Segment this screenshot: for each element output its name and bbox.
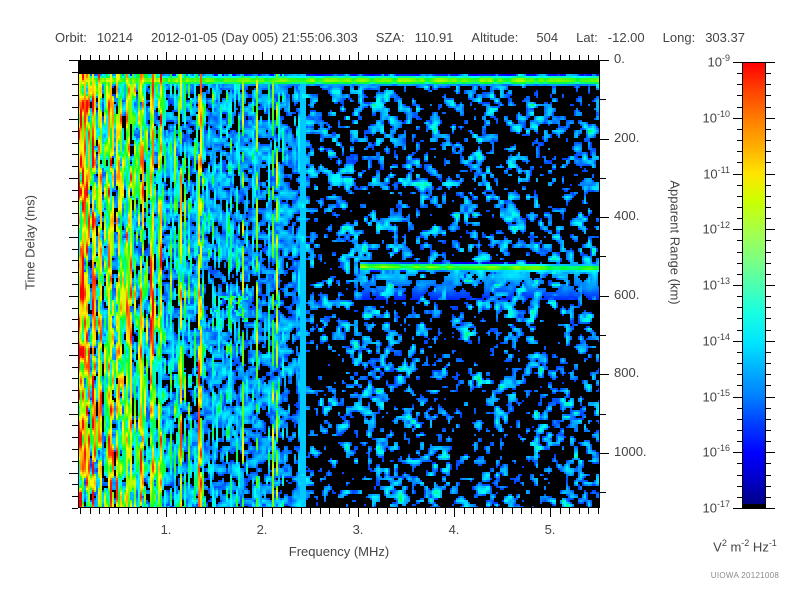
colorbar-minor-tick [737, 95, 742, 96]
colorbar-minor-tick [737, 486, 742, 487]
colorbar-minor-tick [737, 185, 742, 186]
colorbar-minor-tick [737, 207, 742, 208]
colorbar-unit-m: m [727, 539, 741, 554]
colorbar-major-tick [766, 508, 775, 509]
colorbar-tick-exponent: -14 [717, 332, 730, 342]
colorbar-minor-tick [737, 263, 742, 264]
colorbar-minor-tick [766, 363, 771, 364]
colorbar-minor-tick [766, 84, 771, 85]
colorbar-minor-tick [766, 185, 771, 186]
colorbar-minor-tick [737, 363, 742, 364]
colorbar-minor-tick [766, 73, 771, 74]
colorbar-minor-tick [737, 162, 742, 163]
colorbar-minor-tick [766, 129, 771, 130]
colorbar-minor-tick [766, 162, 771, 163]
colorbar-tick-label: 10-13 [703, 276, 730, 292]
colorbar-tick-exponent: -10 [717, 109, 730, 119]
colorbar-tick-base: 10 [703, 277, 717, 292]
colorbar-minor-tick [766, 475, 771, 476]
colorbar-minor-tick [737, 430, 742, 431]
colorbar-minor-tick [766, 408, 771, 409]
colorbar-tick-label: 10-14 [703, 332, 730, 348]
colorbar-minor-tick [737, 274, 742, 275]
colorbar-tick-base: 10 [703, 110, 717, 125]
colorbar-tick-base: 10 [703, 444, 717, 459]
colorbar-minor-tick [737, 330, 742, 331]
colorbar-tick-exponent: -13 [717, 276, 730, 286]
colorbar-major-tick [766, 229, 775, 230]
colorbar-minor-tick [737, 419, 742, 420]
credit-text: UIOWA 20121008 [690, 571, 800, 580]
colorbar-major-tick [766, 118, 775, 119]
colorbar-minor-tick [766, 374, 771, 375]
colorbar-tick-base: 10 [703, 333, 717, 348]
colorbar-minor-tick [766, 95, 771, 96]
colorbar-major-tick [766, 341, 775, 342]
colorbar-tick-exponent: -16 [717, 443, 730, 453]
colorbar-major-tick [733, 285, 742, 286]
colorbar-minor-tick [766, 151, 771, 152]
colorbar-tick-label: 10-10 [703, 109, 730, 125]
colorbar-major-tick [733, 452, 742, 453]
colorbar-tick-exponent: -12 [717, 220, 730, 230]
colorbar-major-tick [733, 118, 742, 119]
colorbar-minor-tick [737, 408, 742, 409]
colorbar-minor-tick [766, 430, 771, 431]
colorbar-minor-tick [737, 196, 742, 197]
colorbar-tick-label: 10-9 [708, 53, 730, 69]
colorbar-minor-tick [737, 296, 742, 297]
colorbar-unit-v: V [713, 539, 722, 554]
colorbar-minor-tick [737, 463, 742, 464]
colorbar-minor-tick [766, 240, 771, 241]
colorbar-minor-tick [766, 207, 771, 208]
colorbar-minor-tick [737, 318, 742, 319]
colorbar-major-tick [733, 229, 742, 230]
colorbar-minor-tick [737, 84, 742, 85]
colorbar-major-tick [766, 452, 775, 453]
colorbar-major-tick [733, 397, 742, 398]
colorbar-tick-base: 10 [703, 166, 717, 181]
colorbar-minor-tick [737, 374, 742, 375]
colorbar-minor-tick [766, 218, 771, 219]
colorbar-tick-label: 10-12 [703, 220, 730, 236]
colorbar-tick-base: 10 [703, 221, 717, 236]
colorbar-ticks: 10-910-1010-1110-1210-1310-1410-1510-161… [0, 0, 800, 600]
colorbar-minor-tick [766, 385, 771, 386]
colorbar-minor-tick [737, 475, 742, 476]
colorbar-minor-tick [766, 463, 771, 464]
colorbar-minor-tick [766, 296, 771, 297]
colorbar-major-tick [733, 62, 742, 63]
colorbar-major-tick [733, 508, 742, 509]
colorbar-minor-tick [766, 140, 771, 141]
colorbar-minor-tick [766, 352, 771, 353]
colorbar-minor-tick [766, 486, 771, 487]
colorbar-minor-tick [737, 73, 742, 74]
colorbar-minor-tick [766, 263, 771, 264]
colorbar-major-tick [733, 174, 742, 175]
colorbar-minor-tick [766, 196, 771, 197]
colorbar-minor-tick [766, 330, 771, 331]
colorbar-tick-base: 10 [703, 389, 717, 404]
colorbar-tick-label: 10-17 [703, 499, 730, 515]
colorbar-tick-base: 10 [708, 54, 722, 69]
colorbar-minor-tick [737, 129, 742, 130]
colorbar-minor-tick [737, 441, 742, 442]
colorbar-minor-tick [737, 140, 742, 141]
colorbar-tick-exponent: -9 [722, 53, 730, 63]
colorbar-minor-tick [737, 107, 742, 108]
ionogram-figure: Orbit: 10214 2012-01-05 (Day 005) 21:55:… [0, 0, 800, 600]
colorbar-minor-tick [737, 352, 742, 353]
colorbar-minor-tick [737, 240, 742, 241]
colorbar-minor-tick [766, 252, 771, 253]
colorbar-minor-tick [766, 419, 771, 420]
colorbar-minor-tick [737, 218, 742, 219]
colorbar-tick-exponent: -17 [717, 499, 730, 509]
colorbar-minor-tick [737, 307, 742, 308]
colorbar-minor-tick [766, 274, 771, 275]
colorbar-tick-label: 10-16 [703, 443, 730, 459]
colorbar-minor-tick [737, 385, 742, 386]
colorbar-minor-tick [766, 107, 771, 108]
colorbar-major-tick [733, 341, 742, 342]
colorbar-minor-tick [766, 441, 771, 442]
colorbar-minor-tick [737, 151, 742, 152]
colorbar-major-tick [766, 174, 775, 175]
colorbar-major-tick [766, 397, 775, 398]
colorbar-tick-base: 10 [703, 500, 717, 515]
colorbar-minor-tick [766, 318, 771, 319]
colorbar-major-tick [766, 285, 775, 286]
colorbar-unit-hz-exp: -1 [769, 538, 777, 548]
colorbar-tick-exponent: -15 [717, 388, 730, 398]
colorbar-tick-label: 10-11 [703, 165, 730, 181]
colorbar-minor-tick [766, 497, 771, 498]
colorbar-minor-tick [766, 307, 771, 308]
colorbar-minor-tick [737, 252, 742, 253]
colorbar-tick-label: 10-15 [703, 388, 730, 404]
colorbar-major-tick [766, 62, 775, 63]
colorbar-tick-exponent: -11 [718, 165, 730, 175]
colorbar-minor-tick [737, 497, 742, 498]
colorbar-units-label: V2 m-2 Hz-1 [690, 538, 800, 554]
colorbar-unit-hz: Hz [749, 539, 769, 554]
